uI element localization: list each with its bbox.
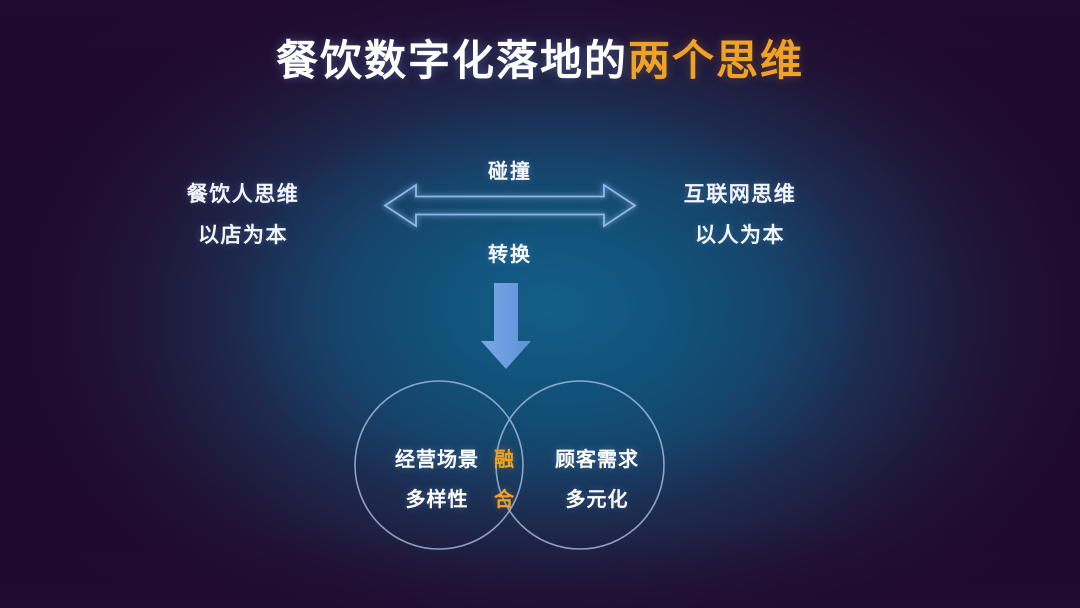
venn-intersection-label: 融 合 <box>487 440 521 520</box>
venn-intersection-char2: 合 <box>487 480 521 520</box>
venn-intersection-char1: 融 <box>487 440 521 480</box>
double-headed-horizontal-arrow-icon <box>385 185 635 226</box>
venn-right-label: 顾客需求 多元化 <box>522 440 672 520</box>
venn-right-line2: 多元化 <box>522 480 672 520</box>
presentation-slide: 餐饮数字化落地的两个思维 餐饮人思维 以店为本 互联网思维 以人为本 碰撞 转换 <box>0 0 1080 608</box>
down-arrow-icon <box>481 283 531 369</box>
venn-right-line1: 顾客需求 <box>522 440 672 480</box>
